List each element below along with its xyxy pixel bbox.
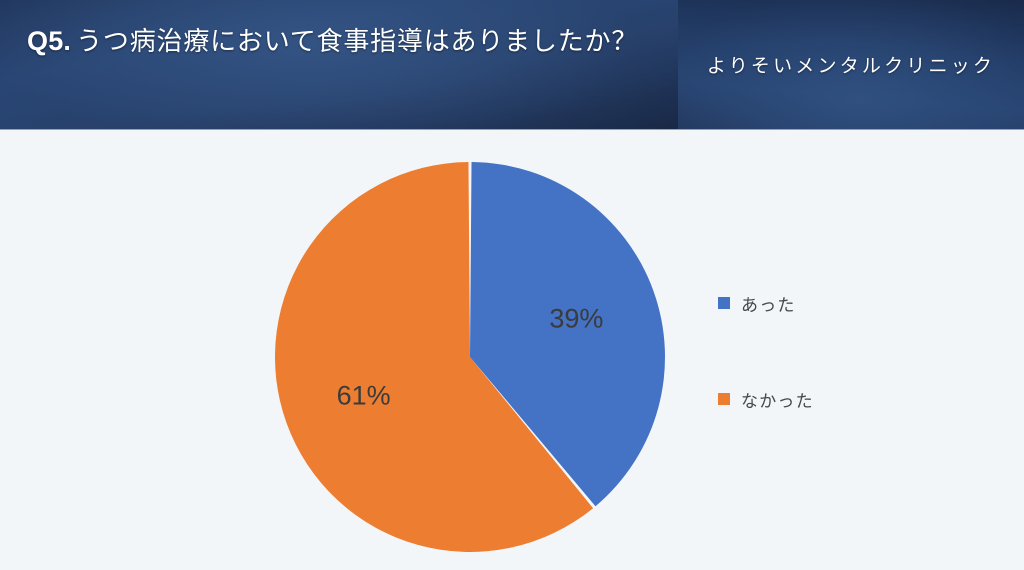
slide: Q5.うつ病治療において食事指導はありましたか？ よりそいメンタルクリニック 3… [0, 0, 1024, 570]
legend-label-atta: あった [741, 291, 796, 316]
legend-item-atta[interactable]: あった [718, 291, 948, 315]
question-text: うつ病治療において食事指導はありましたか？ [76, 26, 638, 56]
chart-legend: あった なかった [718, 291, 948, 411]
slide-header: Q5.うつ病治療において食事指導はありましたか？ よりそいメンタルクリニック [0, 0, 1024, 130]
slice-value-label-nakatta: 61% [337, 380, 391, 410]
header-brand-panel: よりそいメンタルクリニック [678, 0, 1024, 129]
page-title: Q5.うつ病治療において食事指導はありましたか？ [27, 24, 642, 59]
header-title-panel: Q5.うつ病治療において食事指導はありましたか？ [0, 0, 678, 129]
clinic-name: よりそいメンタルクリニック [707, 51, 995, 78]
pie-chart: 39% 61% [275, 162, 665, 552]
pie-chart-svg: 39% 61% [275, 162, 665, 552]
slice-value-label-atta: 39% [549, 304, 603, 334]
legend-item-nakatta[interactable]: なかった [718, 387, 948, 411]
legend-swatch-orange-icon [718, 393, 730, 405]
chart-area: 39% 61% あった なかった [0, 131, 1024, 570]
legend-label-nakatta: なかった [741, 387, 814, 412]
question-number: Q5. [27, 26, 71, 56]
legend-swatch-blue-icon [718, 297, 730, 309]
